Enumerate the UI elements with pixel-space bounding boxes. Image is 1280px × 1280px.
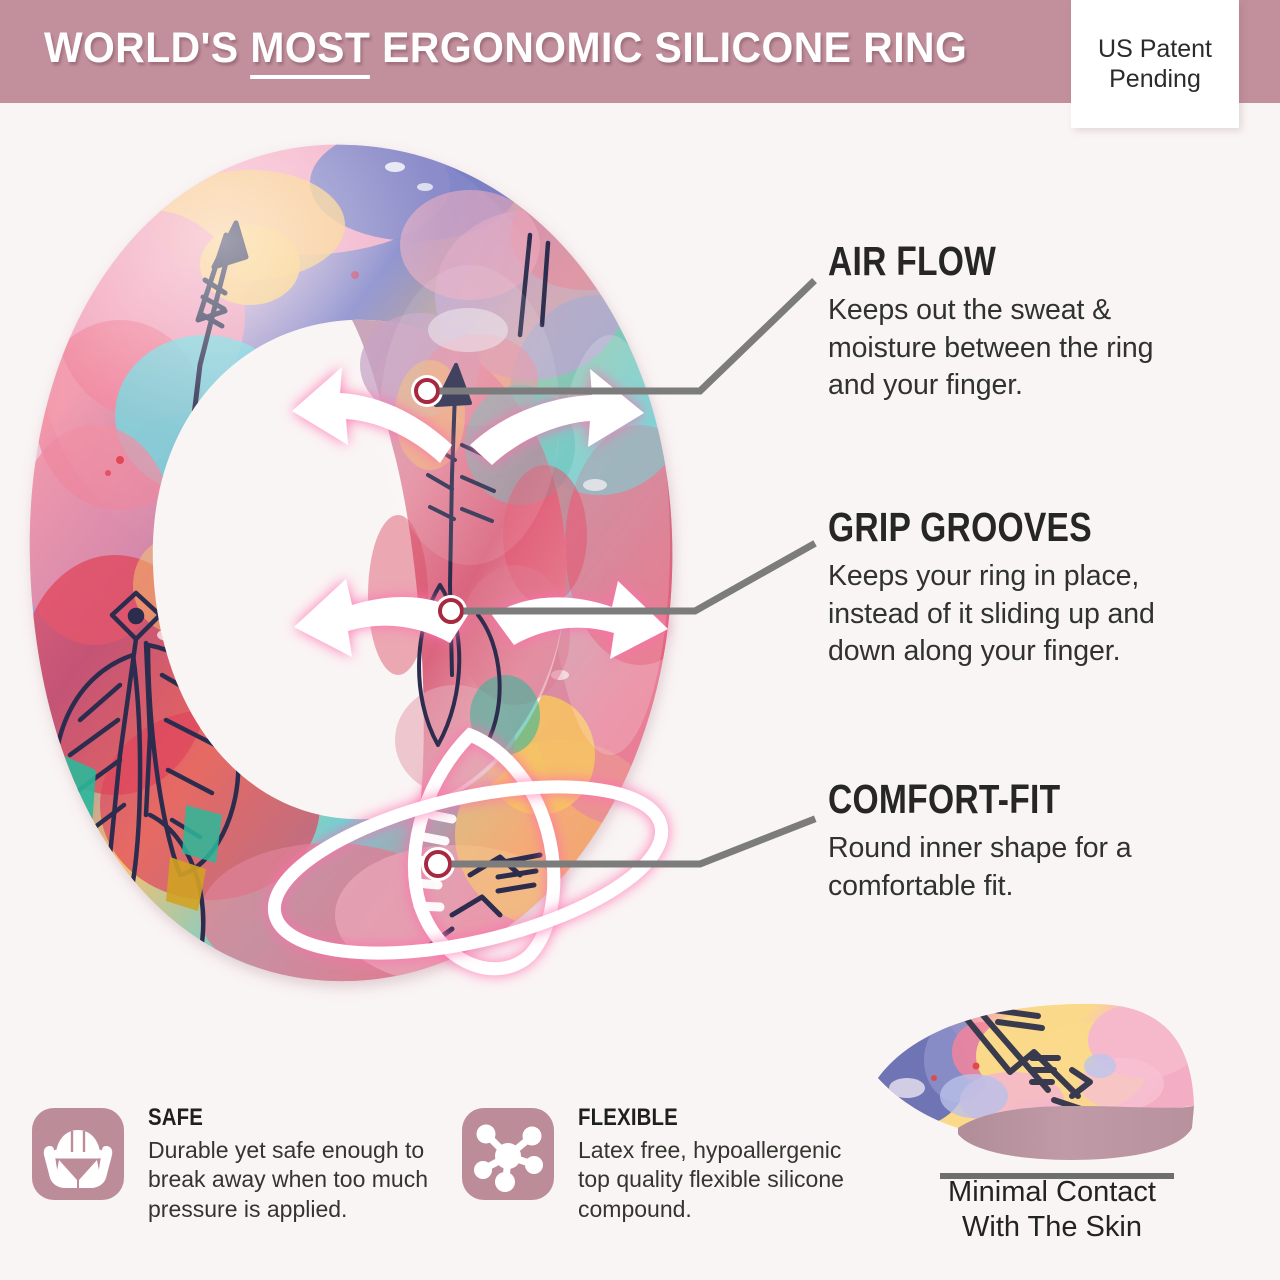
cross-section-svg bbox=[862, 1000, 1242, 1185]
page-title-post: ERGONOMIC SILICONE RING bbox=[370, 24, 967, 72]
callout-air-flow: AIR FLOW Keeps out the sweat & moisture … bbox=[828, 240, 1208, 405]
patent-line-2: Pending bbox=[1098, 64, 1212, 95]
cross-section-caption: Minimal Contact With The Skin bbox=[862, 1175, 1242, 1245]
cross-section-illustration: Minimal Contact With The Skin bbox=[862, 1000, 1242, 1245]
callout-grip-grooves-body: Keeps your ring in place, instead of it … bbox=[828, 558, 1216, 671]
page-title-pre: WORLD'S bbox=[44, 24, 250, 72]
badge-flexible-title: FLEXIBLE bbox=[578, 1104, 819, 1132]
callout-air-flow-body: Keeps out the sweat & moisture between t… bbox=[828, 292, 1208, 405]
badge-flexible: FLEXIBLE Latex free, hypoallergenic top … bbox=[462, 1100, 862, 1224]
page-title: WORLD'S MOST ERGONOMIC SILICONE RING bbox=[44, 24, 967, 73]
cross-section-caption-line-1: Minimal Contact bbox=[862, 1175, 1242, 1210]
patent-badge-text: US Patent Pending bbox=[1098, 34, 1212, 95]
ring-illustration bbox=[0, 115, 760, 1015]
callout-marker-airflow[interactable] bbox=[411, 375, 443, 407]
badge-safe: SAFE Durable yet safe enough to break aw… bbox=[32, 1100, 432, 1224]
badge-flexible-text: FLEXIBLE Latex free, hypoallergenic top … bbox=[578, 1100, 862, 1224]
patent-badge: US Patent Pending bbox=[1071, 0, 1239, 128]
badge-flexible-body: Latex free, hypoallergenic top quality f… bbox=[578, 1136, 862, 1224]
badge-safe-title: SAFE bbox=[148, 1104, 389, 1132]
callout-comfort-fit-body: Round inner shape for a comfortable fit. bbox=[828, 830, 1208, 905]
callout-marker-comfort[interactable] bbox=[421, 847, 455, 881]
hard-hat-in-hands-icon bbox=[32, 1108, 124, 1200]
badge-safe-body: Durable yet safe enough to break away wh… bbox=[148, 1136, 432, 1224]
callout-comfort-fit-title: COMFORT-FIT bbox=[828, 778, 1140, 821]
cross-section-caption-line-2: With The Skin bbox=[862, 1210, 1242, 1245]
callout-comfort-fit: COMFORT-FIT Round inner shape for a comf… bbox=[828, 778, 1208, 905]
callout-air-flow-title: AIR FLOW bbox=[828, 240, 1140, 283]
page-title-emphasis: MOST bbox=[250, 24, 370, 79]
callout-marker-grip[interactable] bbox=[435, 595, 467, 627]
callout-grip-grooves: GRIP GROOVES Keeps your ring in place, i… bbox=[828, 506, 1216, 671]
callout-grip-grooves-title: GRIP GROOVES bbox=[828, 506, 1146, 549]
molecule-icon bbox=[462, 1108, 554, 1200]
badge-safe-text: SAFE Durable yet safe enough to break aw… bbox=[148, 1100, 432, 1224]
ring-svg bbox=[0, 115, 760, 1015]
patent-line-1: US Patent bbox=[1098, 34, 1212, 65]
